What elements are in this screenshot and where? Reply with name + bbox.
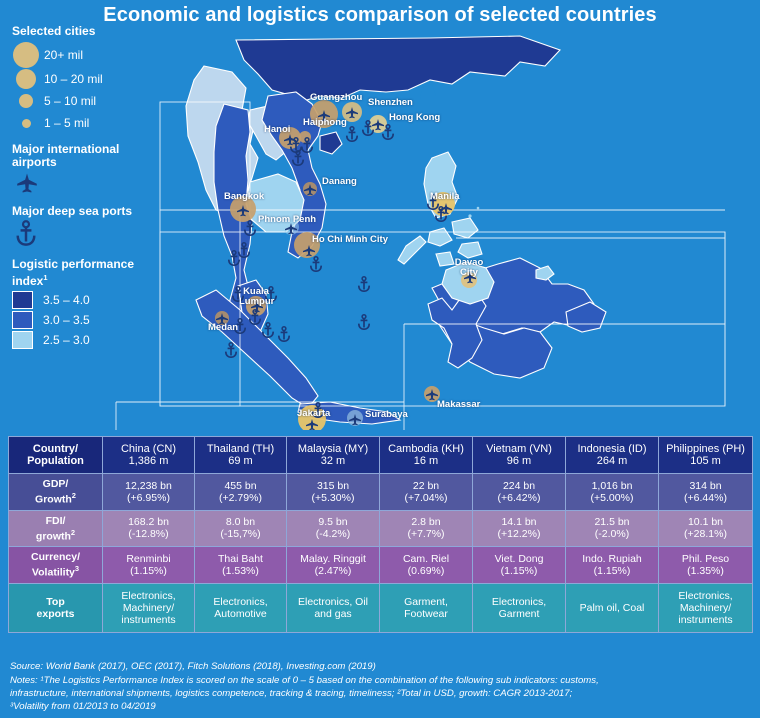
cell-country-id: Indonesia (ID)264 m: [566, 437, 659, 474]
cell-exports-th: Electronics, Automotive: [195, 583, 287, 632]
city-label-ho-chi-minh-city: Ho Chi Minh City: [312, 234, 388, 245]
cell-fdi-ph: 10.1 bn(+28.1%): [659, 510, 753, 547]
city-label-manila: Manila: [430, 191, 460, 202]
city-label-surabaya: Surabaya: [365, 409, 408, 420]
legend-port-icon-row: [14, 220, 148, 249]
footnotes: Source: World Bank (2017), OEC (2017), F…: [10, 660, 755, 713]
legend-ports-title: Major deep sea ports: [12, 205, 148, 218]
city-label-hanoi: Hanoi: [264, 124, 290, 135]
cell-exports-my: Electronics, Oil and gas: [287, 583, 380, 632]
footnote-source: Source: World Bank (2017), OEC (2017), F…: [10, 660, 755, 673]
cell-gdp-cn: 12,238 bn(+6.95%): [103, 474, 195, 511]
legend-airport-icon-row: [14, 171, 148, 196]
legend-lpi-row-2: 3.0 – 3.5: [8, 310, 148, 330]
cell-country-vn: Vietnam (VN)96 m: [473, 437, 566, 474]
city-size-dot-3: [8, 94, 44, 108]
legend-city-size-row-2: 10 – 20 mil: [8, 68, 148, 90]
legend-city-size-label-1: 20+ mil: [44, 48, 83, 62]
cell-fdi-id: 21.5 bn(-2.0%): [566, 510, 659, 547]
table-row-gdp: GDP/Growth2 12,238 bn(+6.95%) 455 bn(+2.…: [9, 474, 753, 511]
footnote-line-1: Notes: ¹The Logistics Performance Index …: [10, 674, 755, 687]
city-label-jakarta: Jakarta: [297, 408, 330, 419]
table-row-exports: Topexports Electronics, Machinery/ instr…: [9, 583, 753, 632]
cell-currency-cn: Renminbi(1.15%): [103, 547, 195, 584]
city-label-bangkok: Bangkok: [224, 191, 264, 202]
lpi-label-high: 3.5 – 4.0: [43, 293, 90, 307]
legend-lpi-title-text: Logistic performance index: [12, 257, 134, 288]
cell-exports-id: Palm oil, Coal: [566, 583, 659, 632]
legend-airports-title: Major international airports: [12, 143, 148, 169]
cell-fdi-my: 9.5 bn(-4.2%): [287, 510, 380, 547]
legend-cities-title: Selected cities: [12, 24, 148, 38]
row-header-exports: Topexports: [9, 583, 103, 632]
table-row-currency: Currency/Volatility3 Renminbi(1.15%) Tha…: [9, 547, 753, 584]
city-size-dot-1: [8, 42, 44, 68]
city-label-davao-city: Davao City: [452, 258, 486, 278]
lpi-swatch-mid: [12, 311, 33, 329]
table-row-fdi: FDI/growth2 168.2 bn(-12.8%) 8.0 bn(-15,…: [9, 510, 753, 547]
cell-currency-th: Thai Baht(1.53%): [195, 547, 287, 584]
legend-city-size-label-2: 10 – 20 mil: [44, 72, 103, 86]
city-label-guangzhou: Guangzhou: [310, 92, 362, 103]
lpi-swatch-high: [12, 291, 33, 309]
table-row-country: Country/Population China (CN)1,386 m Tha…: [9, 437, 753, 474]
airplane-icon: [14, 171, 40, 193]
cell-currency-vn: Viet. Dong(1.15%): [473, 547, 566, 584]
cell-country-my: Malaysia (MY)32 m: [287, 437, 380, 474]
city-label-makassar: Makassar: [437, 399, 480, 410]
legend-lpi-title-sup: 1: [43, 273, 47, 282]
cell-currency-kh: Cam. Riel(0.69%): [380, 547, 473, 584]
city-label-danang: Danang: [322, 176, 357, 187]
row-header-country: Country/Population: [9, 437, 103, 474]
city-label-kuala-lumpur: Kuala Lumpur: [239, 287, 273, 307]
legend-city-size-row-3: 5 – 10 mil: [8, 90, 148, 112]
cell-exports-kh: Garment, Footwear: [380, 583, 473, 632]
footnote-line-3: ³Volatility from 01/2013 to 04/2019: [10, 700, 755, 713]
lpi-label-mid: 3.0 – 3.5: [43, 313, 90, 327]
row-header-fdi: FDI/growth2: [9, 510, 103, 547]
city-label-medan: Medan: [208, 322, 238, 333]
legend-lpi-row-3: 2.5 – 3.0: [8, 330, 148, 350]
map-legend: Selected cities 20+ mil 10 – 20 mil 5 – …: [8, 24, 148, 350]
cell-exports-cn: Electronics, Machinery/ instruments: [103, 583, 195, 632]
comparison-table: Country/Population China (CN)1,386 m Tha…: [8, 436, 753, 633]
cell-fdi-kh: 2.8 bn(+7.7%): [380, 510, 473, 547]
cell-exports-ph: Electronics, Machinery/ instruments: [659, 583, 753, 632]
small-island-1: [468, 214, 471, 217]
city-label-phnom-penh: Phnom Penh: [258, 214, 316, 225]
cell-country-kh: Cambodia (KH)16 m: [380, 437, 473, 474]
legend-city-size-row-4: 1 – 5 mil: [8, 112, 148, 134]
cell-fdi-cn: 168.2 bn(-12.8%): [103, 510, 195, 547]
cell-currency-my: Malay. Ringgit(2.47%): [287, 547, 380, 584]
cell-gdp-id: 1,016 bn(+5.00%): [566, 474, 659, 511]
small-island-2: [477, 207, 480, 210]
city-label-haiphong: Haiphong: [303, 117, 347, 128]
row-header-currency: Currency/Volatility3: [9, 547, 103, 584]
legend-lpi-title: Logistic performance index1: [12, 258, 148, 288]
cell-gdp-ph: 314 bn(+6.44%): [659, 474, 753, 511]
cell-gdp-vn: 224 bn(+6.42%): [473, 474, 566, 511]
row-header-gdp: GDP/Growth2: [9, 474, 103, 511]
legend-city-size-row-1: 20+ mil: [8, 42, 148, 68]
cell-currency-ph: Phil. Peso(1.35%): [659, 547, 753, 584]
cell-fdi-th: 8.0 bn(-15,7%): [195, 510, 287, 547]
cell-gdp-my: 315 bn(+5.30%): [287, 474, 380, 511]
cell-country-cn: China (CN)1,386 m: [103, 437, 195, 474]
cell-fdi-vn: 14.1 bn(+12.2%): [473, 510, 566, 547]
cell-exports-vn: Electronics, Garment: [473, 583, 566, 632]
cell-gdp-th: 455 bn(+2.79%): [195, 474, 287, 511]
lpi-label-low: 2.5 – 3.0: [43, 333, 90, 347]
cell-currency-id: Indo. Rupiah(1.15%): [566, 547, 659, 584]
lpi-swatch-low: [12, 331, 33, 349]
cell-gdp-kh: 22 bn(+7.04%): [380, 474, 473, 511]
city-label-hong-kong: Hong Kong: [389, 112, 440, 123]
city-label-shenzhen: Shenzhen: [368, 97, 413, 108]
cell-country-ph: Philippines (PH)105 m: [659, 437, 753, 474]
cell-country-th: Thailand (TH)69 m: [195, 437, 287, 474]
footnote-line-2: infrastructure, international shipments,…: [10, 687, 755, 700]
legend-city-size-label-4: 1 – 5 mil: [44, 116, 89, 130]
legend-lpi-row-1: 3.5 – 4.0: [8, 290, 148, 310]
anchor-icon: [14, 220, 38, 246]
city-size-dot-2: [8, 69, 44, 89]
city-size-dot-4: [8, 119, 44, 128]
legend-city-size-label-3: 5 – 10 mil: [44, 94, 96, 108]
